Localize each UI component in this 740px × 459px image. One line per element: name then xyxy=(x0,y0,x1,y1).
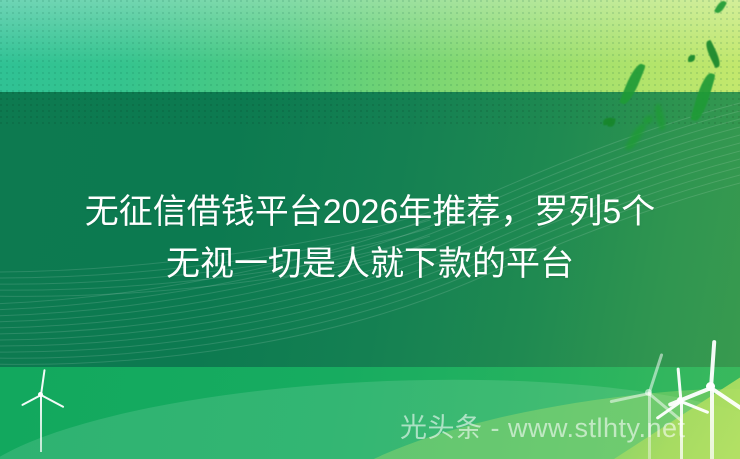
wind-turbine-icon xyxy=(30,372,80,452)
site-watermark: 光头条 - www.stlhty.net xyxy=(400,406,686,445)
promo-banner: 无征信借钱平台2026年推荐，罗列5个 无视一切是人就下款的平台 光头条 - w… xyxy=(0,0,740,459)
banner-headline: 无征信借钱平台2026年推荐，罗列5个 无视一切是人就下款的平台 xyxy=(0,186,740,290)
